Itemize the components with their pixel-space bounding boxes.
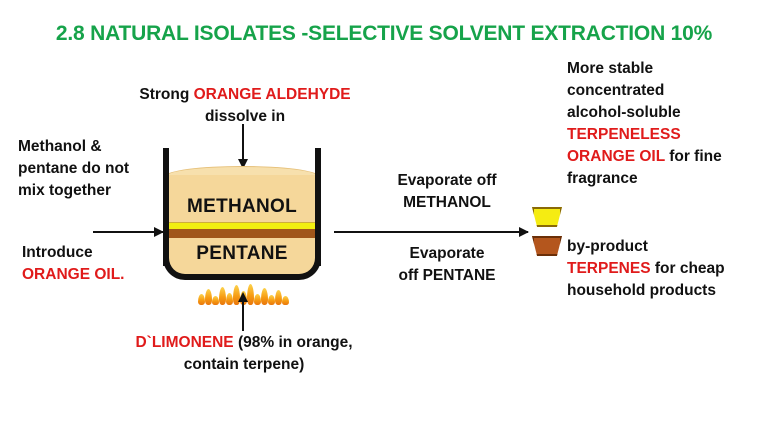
product-line3: alcohol-soluble: [567, 102, 767, 124]
product-line6: fragrance: [567, 168, 767, 190]
product-line5: ORANGE OIL for fine: [567, 146, 767, 168]
evaporate-pentane-line2: off PENTANE: [372, 265, 522, 287]
orange-aldehyde-strong: Strong: [139, 86, 193, 103]
evaporation-right-arrow: [334, 231, 528, 233]
immiscible-note: Methanol & pentane do not mix together: [18, 136, 178, 202]
product-line4-terpeneless: TERPENELESS: [567, 124, 767, 146]
product-line1: More stable: [567, 58, 767, 80]
slide-canvas: 2.8 NATURAL ISOLATES -SELECTIVE SOLVENT …: [0, 0, 768, 432]
byproduct-line1: by-product: [567, 236, 767, 258]
brown-beaker-icon: [532, 236, 562, 256]
evaporate-methanol-line1: Evaporate off: [372, 170, 522, 192]
byproduct-line2: TERPENES for cheap: [567, 258, 767, 280]
evaporate-methanol-note: Evaporate off METHANOL: [372, 170, 522, 214]
methanol-layer-label: METHANOL: [166, 196, 318, 218]
introduce-right-arrow: [93, 231, 163, 233]
page-title: 2.8 NATURAL ISOLATES -SELECTIVE SOLVENT …: [0, 22, 768, 46]
immiscible-line2: pentane do not: [18, 158, 178, 180]
orange-aldehyde-note: Strong ORANGE ALDEHYDE dissolve in: [120, 84, 370, 128]
product-line2: concentrated: [567, 80, 767, 102]
orange-aldehyde-line2: dissolve in: [120, 106, 370, 128]
limonene-up-arrow: [242, 301, 244, 331]
terpenes-byproduct-note: by-product TERPENES for cheap household …: [567, 236, 767, 302]
byproduct-for-cheap: for cheap: [651, 260, 725, 277]
byproduct-line3: household products: [567, 280, 767, 302]
orange-aldehyde-line1: Strong ORANGE ALDEHYDE: [120, 84, 370, 106]
reaction-vessel: METHANOL PENTANE: [158, 148, 326, 286]
limonene-line2: contain terpene): [85, 354, 403, 376]
byproduct-terpenes: TERPENES: [567, 260, 651, 277]
evaporate-pentane-note: Evaporate off PENTANE: [372, 243, 522, 287]
limonene-line1: D`LIMONENE (98% in orange,: [85, 332, 403, 354]
evaporate-pentane-line1: Evaporate: [372, 243, 522, 265]
orange-aldehyde-highlight: ORANGE ALDEHYDE: [194, 86, 351, 103]
pentane-layer-label: PENTANE: [166, 243, 318, 265]
immiscible-line1: Methanol &: [18, 136, 178, 158]
evaporate-methanol-line2: METHANOL: [372, 192, 522, 214]
limonene-highlight: D`LIMONENE: [135, 334, 233, 351]
limonene-detail: (98% in orange,: [234, 334, 353, 351]
yellow-beaker-icon: [532, 207, 562, 227]
limonene-note: D`LIMONENE (98% in orange, contain terpe…: [85, 332, 403, 376]
product-orange-oil: ORANGE OIL: [567, 148, 665, 165]
product-for-fine: for fine: [665, 148, 722, 165]
terpeneless-oil-note: More stable concentrated alcohol-soluble…: [567, 58, 767, 190]
immiscible-line3: mix together: [18, 180, 178, 202]
